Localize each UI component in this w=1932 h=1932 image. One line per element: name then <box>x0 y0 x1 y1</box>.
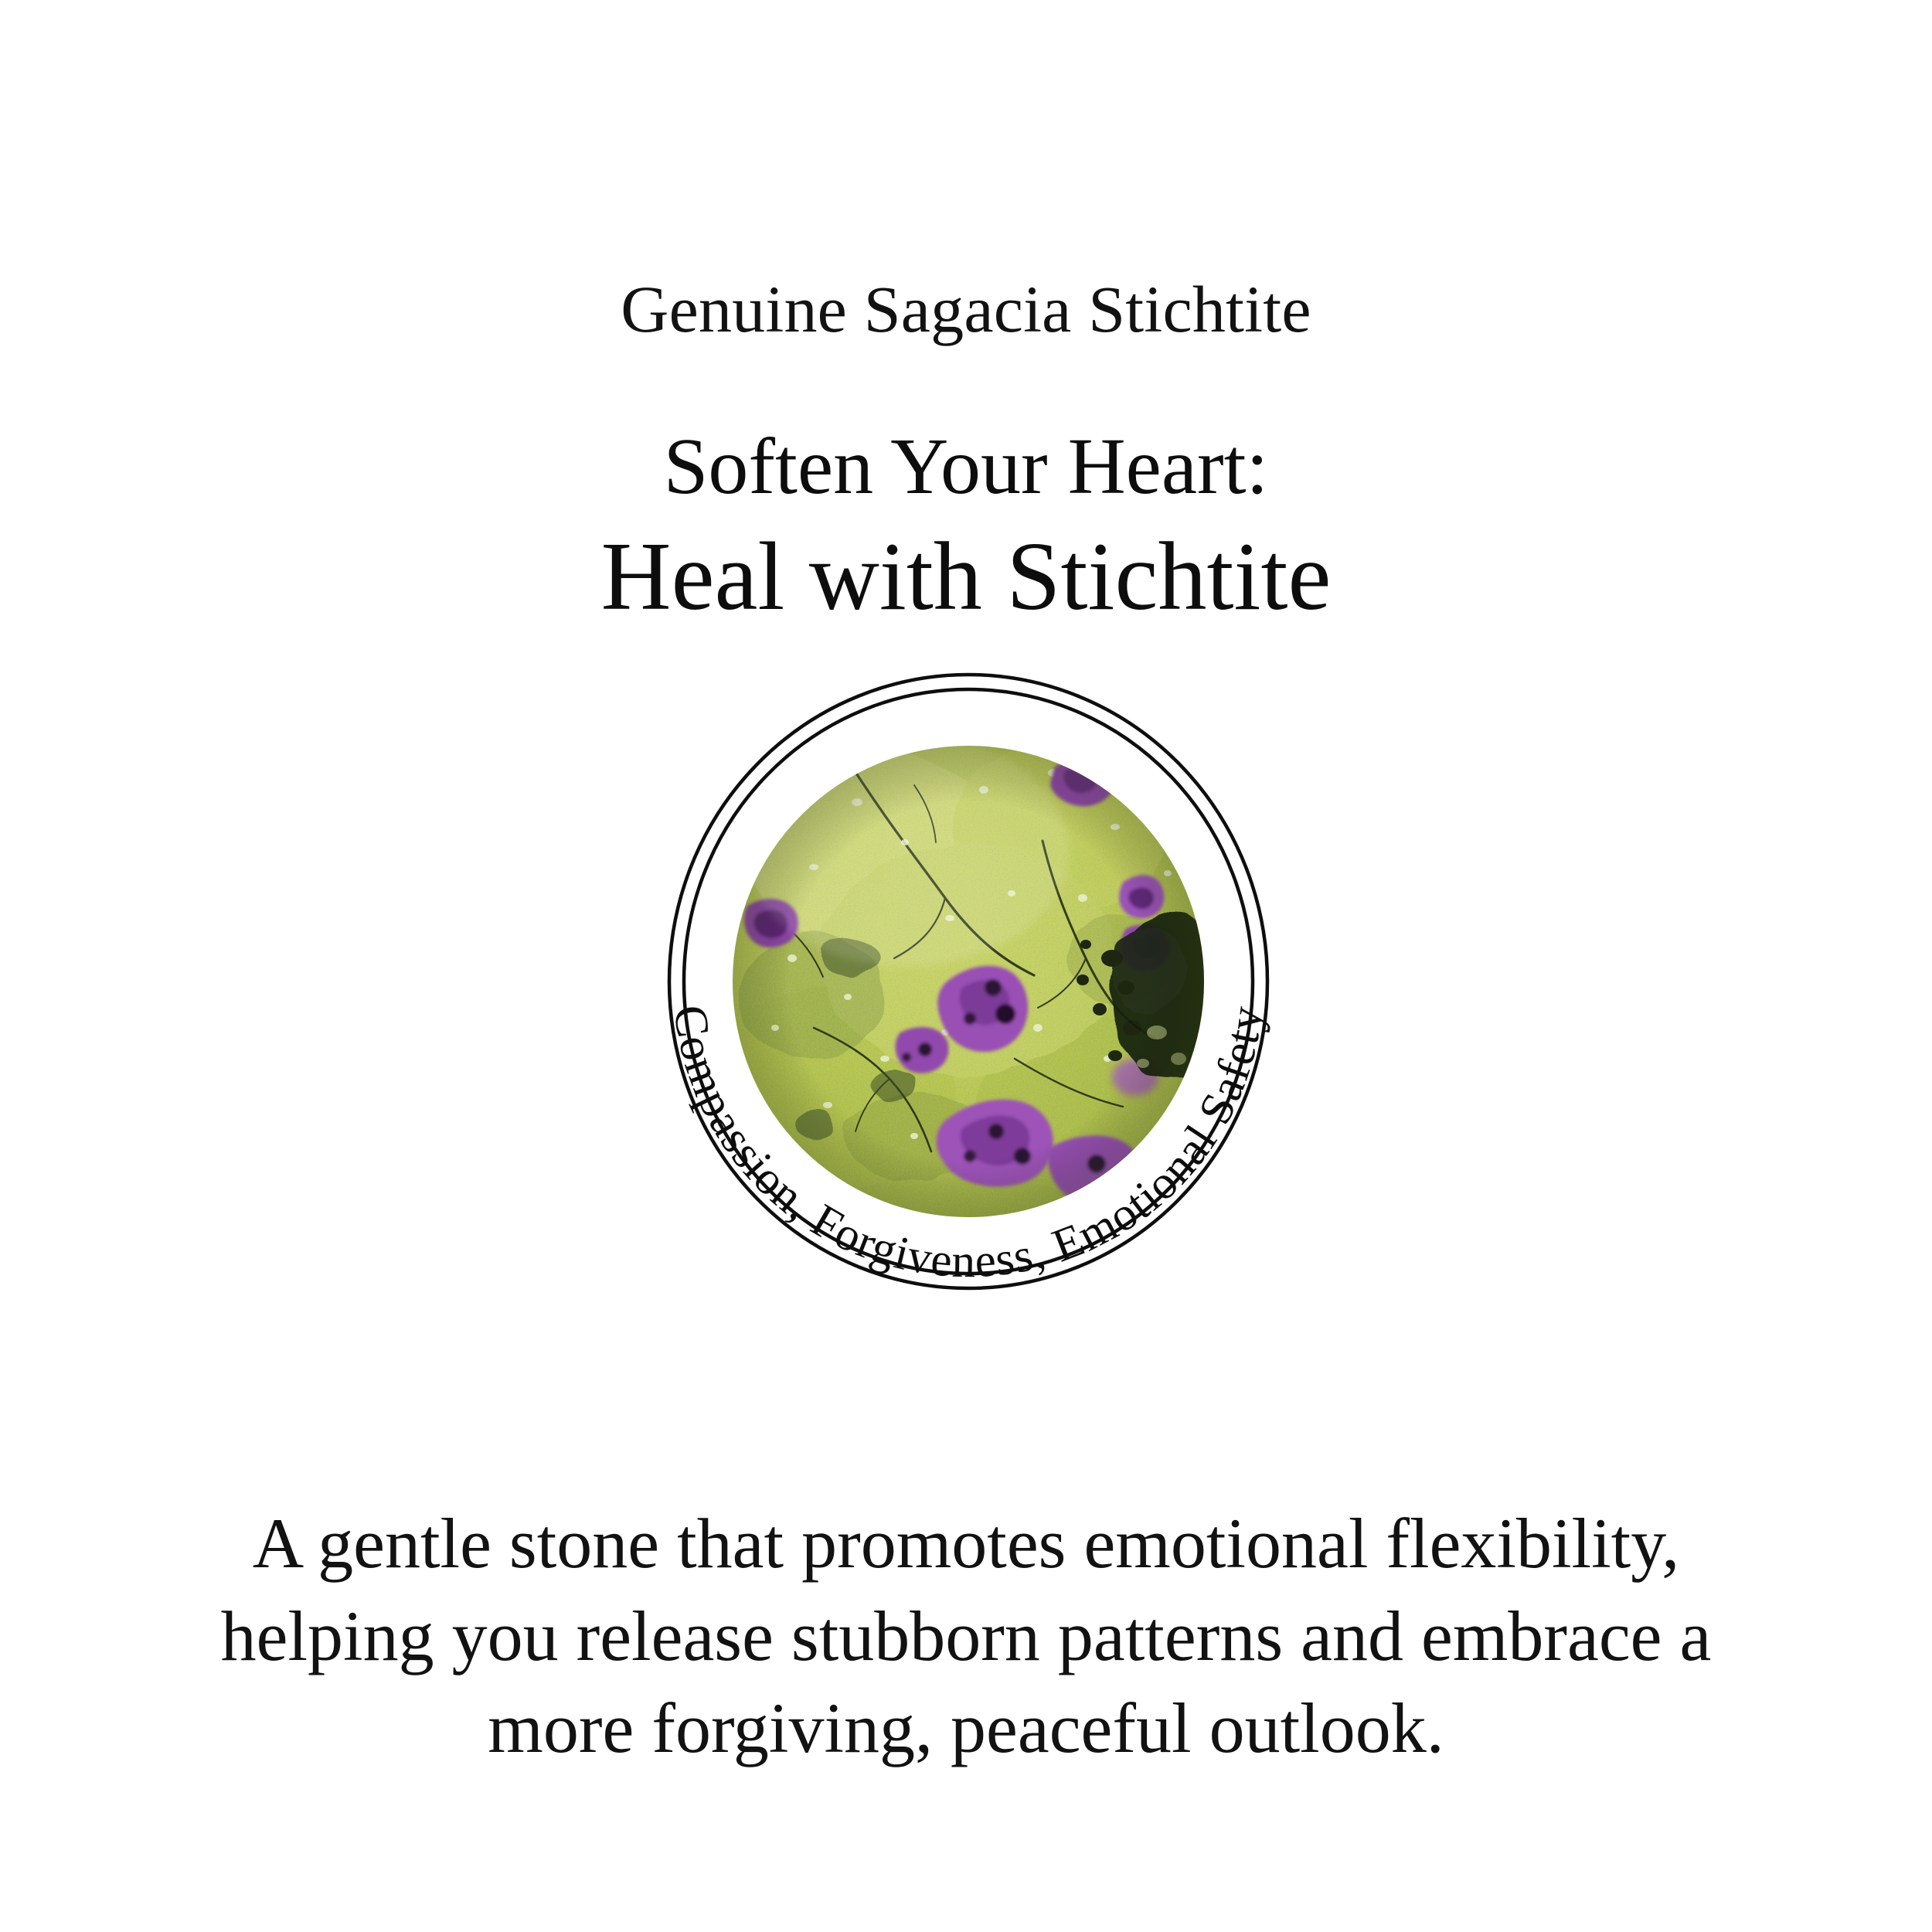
description-line-3: more forgiving, peaceful outlook. <box>147 1682 1785 1775</box>
headline-line-1: Soften Your Heart: <box>0 421 1932 513</box>
description-line-2: helping you release stubborn patterns an… <box>147 1590 1785 1683</box>
stichtite-stone-image <box>706 734 1230 1221</box>
brand-eyebrow: Genuine Sagacia Stichtite <box>0 274 1932 344</box>
description-paragraph: A gentle stone that promotes emotional f… <box>147 1498 1785 1775</box>
stone-seal-badge: Compassion, Forgiveness, Emotional Safet… <box>582 595 1355 1368</box>
poster-canvas: Genuine Sagacia Stichtite Soften Your He… <box>0 0 1932 1932</box>
description-line-1: A gentle stone that promotes emotional f… <box>147 1498 1785 1590</box>
